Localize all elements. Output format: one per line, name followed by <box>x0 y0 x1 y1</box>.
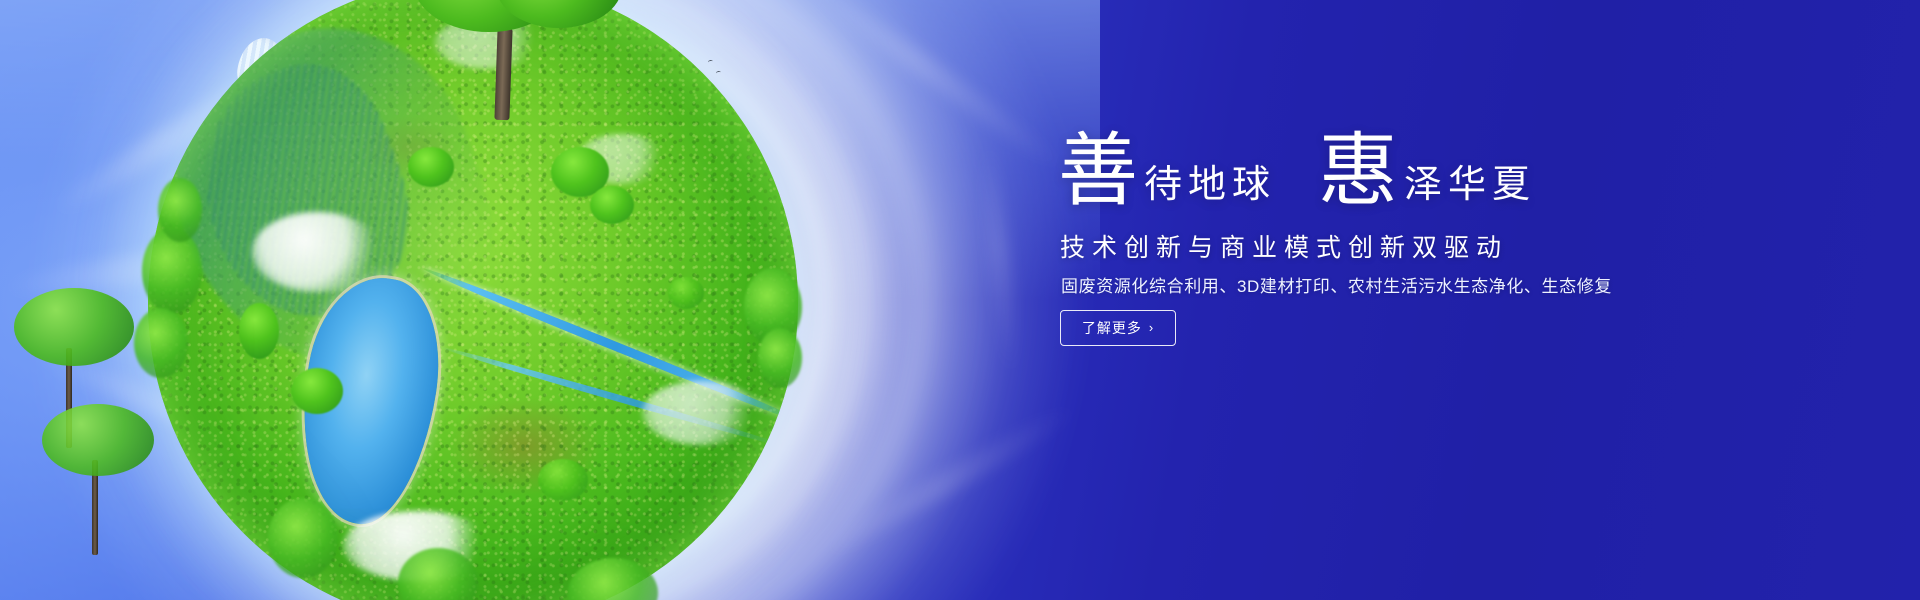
banner-content: 善 待地球 惠 泽华夏 技术创新与商业模式创新双驱动 固废资源化综合利用、3D建… <box>1058 0 1678 600</box>
tree-canopy <box>14 288 134 366</box>
bush-clump <box>538 459 588 501</box>
bush-clump <box>291 368 343 414</box>
bird-icon <box>690 65 696 70</box>
edge-tree <box>568 558 658 600</box>
cloud-wisp <box>815 396 1086 565</box>
bottom-tree <box>8 278 158 458</box>
mountain-ridge-detail <box>170 43 438 342</box>
headline: 善 待地球 惠 泽华夏 <box>1058 136 1536 210</box>
hero-banner: 善 待地球 惠 泽华夏 技术创新与商业模式创新双驱动 固废资源化综合利用、3D建… <box>0 0 1920 600</box>
headline-char-2: 惠 <box>1318 136 1398 210</box>
large-tree-illustration <box>400 0 630 120</box>
surface-cloud <box>252 212 382 292</box>
learn-more-button[interactable]: 了解更多 › <box>1060 310 1176 346</box>
edge-tree <box>134 308 188 378</box>
bush-clump <box>239 303 279 359</box>
cloud-wisp <box>27 341 333 483</box>
river-shape <box>421 264 798 428</box>
headline-text-1: 待地球 <box>1144 166 1276 210</box>
cloud-wisp <box>0 226 340 303</box>
bird-icon <box>700 77 706 82</box>
bird-icon <box>658 69 664 74</box>
bush-clump <box>590 186 634 224</box>
headline-char-1: 善 <box>1058 136 1138 210</box>
surface-cloud <box>343 511 493 581</box>
bird-icon <box>670 61 676 66</box>
bush-clump <box>668 277 704 309</box>
hot-air-balloon-icon <box>238 38 290 122</box>
bird-icon <box>716 71 722 76</box>
subtitle: 技术创新与商业模式创新双驱动 <box>1060 228 1508 264</box>
surface-cloud <box>577 134 667 184</box>
tree-trunk <box>92 460 98 555</box>
bird-icon <box>679 74 685 79</box>
edge-tree <box>744 268 802 346</box>
bird-icon <box>651 56 657 61</box>
tree-trunk <box>494 28 512 120</box>
tree-canopy <box>42 404 154 476</box>
cloud-wisp <box>978 140 1023 381</box>
bush-clump <box>551 147 609 197</box>
bush-clump <box>408 147 454 187</box>
bird-icon <box>630 63 636 68</box>
learn-more-label: 了解更多 <box>1082 318 1142 338</box>
surface-cloud <box>642 381 762 445</box>
chevron-right-icon: › <box>1149 321 1154 334</box>
balloon-basket <box>257 104 269 113</box>
balloon-envelope <box>234 35 290 99</box>
bottom-tree <box>38 398 178 568</box>
tree-trunk <box>66 348 72 448</box>
headline-text-2: 泽华夏 <box>1404 166 1536 210</box>
cloud-wisp <box>786 0 1074 180</box>
edge-tree <box>398 548 478 600</box>
edge-tree <box>158 178 202 242</box>
bird-icon <box>640 76 646 81</box>
lake-shape <box>285 268 452 532</box>
edge-tree <box>142 228 202 314</box>
edge-tree <box>268 498 338 578</box>
bird-icon <box>708 60 714 65</box>
description-text: 固废资源化综合利用、3D建材打印、农村生活污水生态净化、生态修复 <box>1061 272 1612 297</box>
edge-tree <box>758 328 802 388</box>
river-shape-secondary <box>440 344 792 451</box>
